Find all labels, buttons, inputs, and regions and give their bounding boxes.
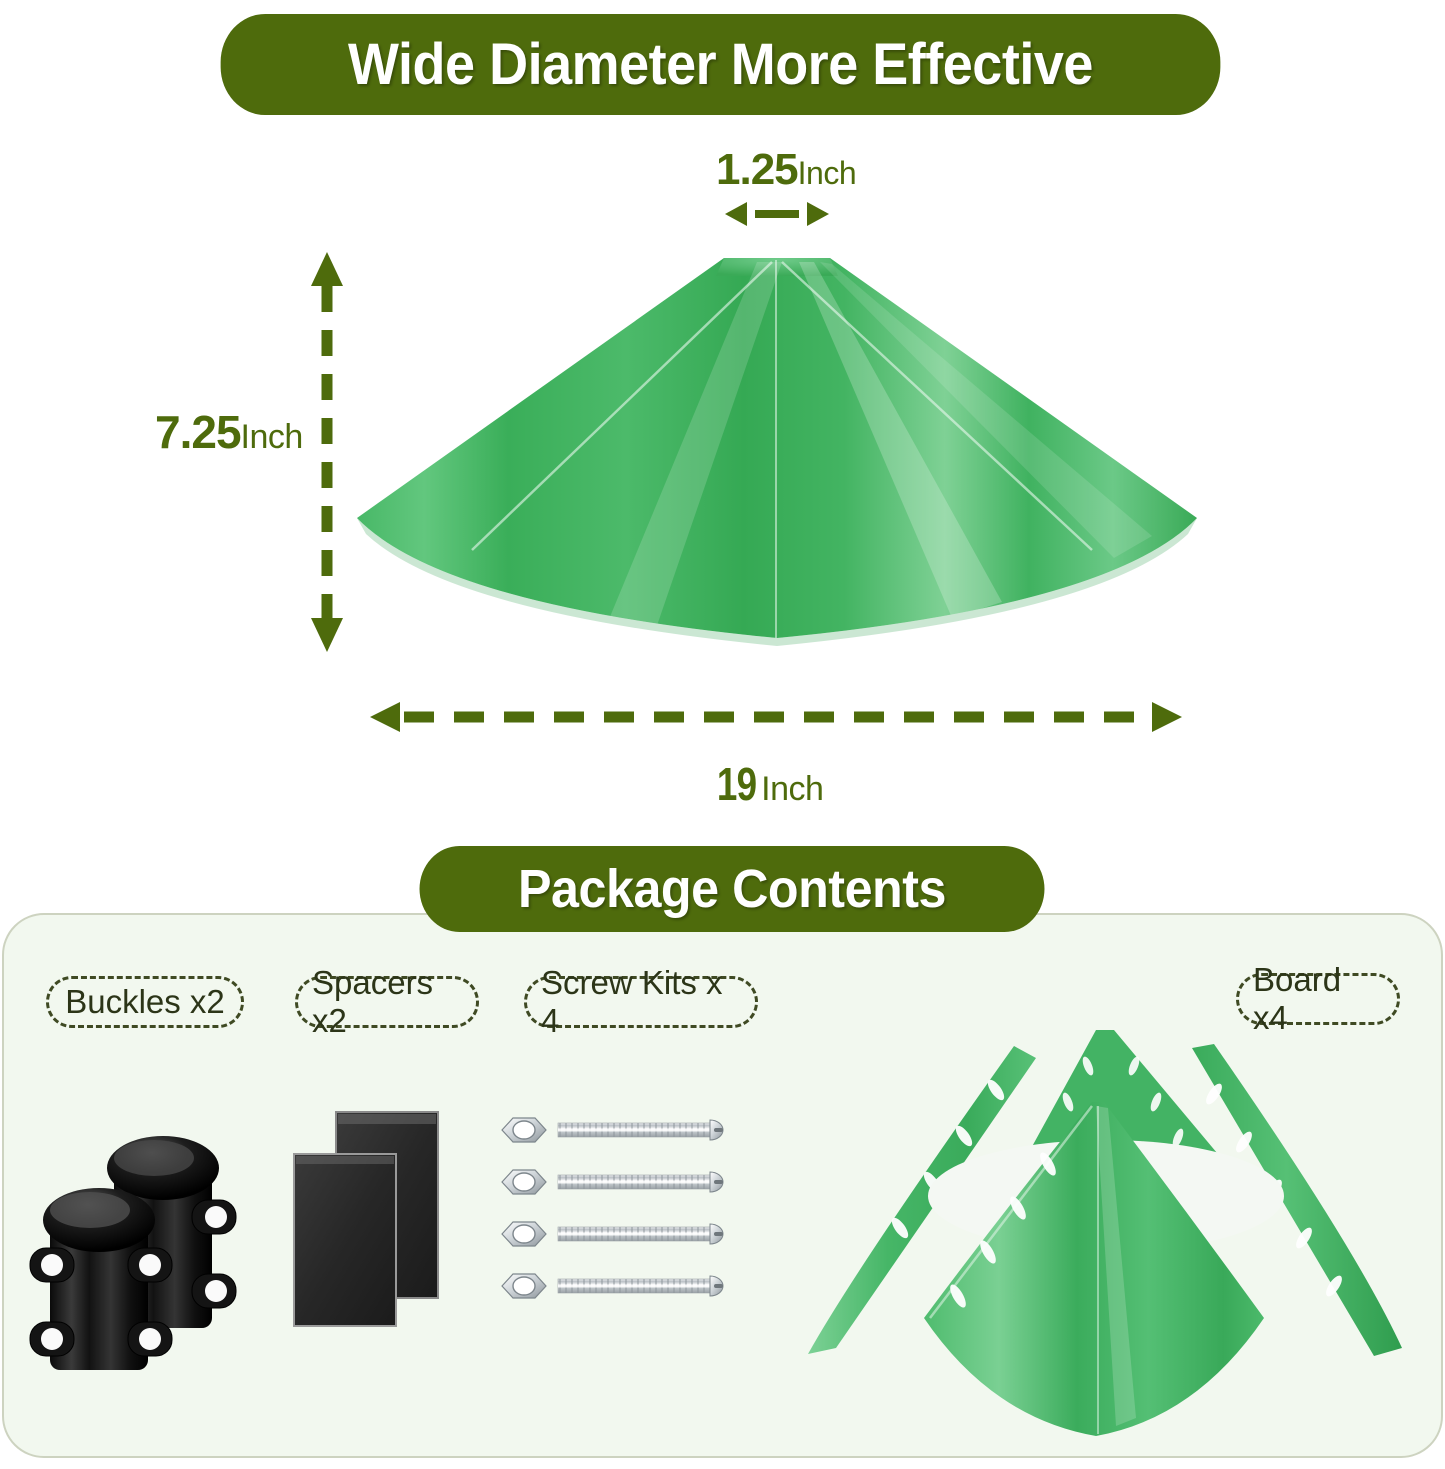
screw-icon: [496, 1116, 760, 1316]
screw-kit-row: [502, 1170, 723, 1194]
spacer-front: [294, 1154, 396, 1326]
dimension-arrow-top-diameter: [725, 200, 831, 228]
chip-text-board: Board x4: [1253, 961, 1383, 1037]
product-cone-illustration: [352, 250, 1202, 650]
dimension-arrow-base-width: [370, 700, 1182, 734]
package-item-label-board: Board x4: [1236, 973, 1400, 1025]
dimension-unit-height: Inch: [241, 418, 303, 457]
screw-kit-row: [502, 1274, 723, 1298]
dimension-unit-top-diameter: Inch: [798, 155, 856, 192]
dimension-arrow-height: [308, 252, 348, 652]
package-item-label-spacers: Spacers x2: [295, 976, 479, 1028]
dimension-label-top-diameter: 1.25 Inch: [716, 145, 856, 195]
package-contents-banner: Package Contents: [420, 846, 1045, 932]
chip-text-buckles: Buckles x2: [65, 983, 225, 1021]
dimension-unit-base-width: Inch: [761, 770, 823, 809]
board-icon: [796, 1018, 1416, 1458]
dimension-value-base-width: 19: [717, 757, 756, 811]
package-item-label-screw-kits: Screw Kits x 4: [524, 976, 758, 1028]
dimension-value-height: 7.25: [155, 405, 241, 459]
dimension-value-top-diameter: 1.25: [716, 145, 798, 195]
chip-text-spacers: Spacers x2: [312, 964, 462, 1040]
package-item-label-buckles: Buckles x2: [46, 976, 244, 1028]
headline-banner-text: Wide Diameter More Effective: [348, 31, 1093, 98]
buckle-icon: [28, 1108, 268, 1378]
dimension-label-height: 7.25 Inch: [155, 405, 303, 459]
buckle-front: [30, 1188, 172, 1370]
dimension-label-base-width: 19 Inch: [712, 757, 823, 811]
package-contents-banner-text: Package Contents: [518, 858, 946, 920]
spacer-icon: [288, 1110, 468, 1330]
screw-kit-row: [502, 1222, 723, 1246]
chip-text-screws: Screw Kits x 4: [541, 964, 741, 1040]
headline-banner-wide-diameter: Wide Diameter More Effective: [221, 14, 1221, 115]
screw-kit-row: [502, 1118, 723, 1142]
